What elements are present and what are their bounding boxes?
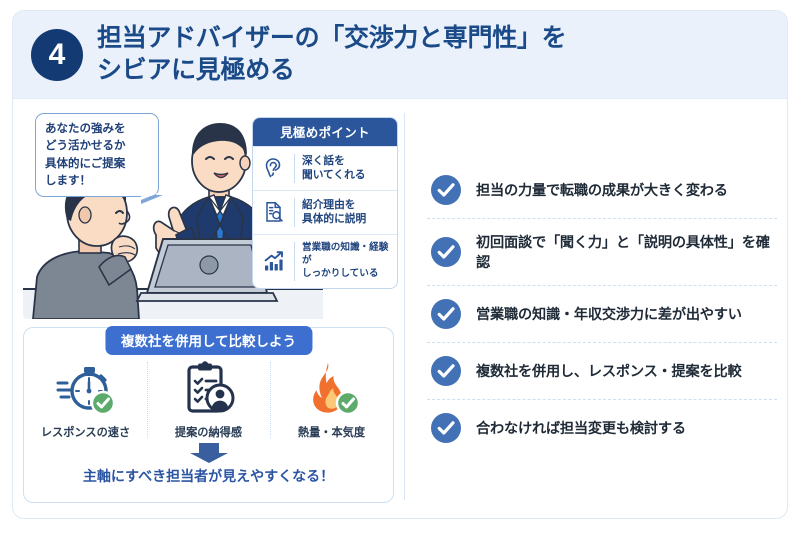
point-line-2: 具体的に説明 xyxy=(302,213,366,225)
speech-bubble: あなたの強みを どう活かせるか 具体的にご提案 します！ xyxy=(35,113,159,197)
compare-column: 熱量・本気度 xyxy=(270,358,393,440)
ear-icon xyxy=(261,155,287,181)
check-circle-icon xyxy=(431,237,461,267)
point-item-text: 営業職の知識・経験が しっかりしている xyxy=(294,242,390,281)
compare-panel-title: 複数社を併用して比較しよう xyxy=(105,326,312,355)
green-check-badge xyxy=(337,392,359,414)
compare-column-label: 提案の納得感 xyxy=(147,424,270,440)
step-number-badge: 4 xyxy=(31,29,83,81)
checklist-item-text: 合わなければ担当変更も検討する xyxy=(476,418,686,438)
compare-column-label: レスポンスの速さ xyxy=(24,424,147,440)
check-circle-icon xyxy=(431,356,461,386)
checklist-item-text: 営業職の知識・年収交渉力に差が出やすい xyxy=(476,304,742,324)
checklist-item: 複数社を併用し、レスポンス・提案を比較 xyxy=(427,342,777,399)
compare-column-label: 熱量・本気度 xyxy=(270,424,393,440)
left-column: あなたの強みを どう活かせるか 具体的にご提案 します！ 見極めポイント xyxy=(13,99,404,518)
checklist-item: 営業職の知識・年収交渉力に差が出やすい xyxy=(427,285,777,342)
page-title: 担当アドバイザーの「交渉力と専門性」を シビアに見極める xyxy=(97,23,566,86)
infographic-page: 4 担当アドバイザーの「交渉力と専門性」を シビアに見極める xyxy=(0,0,800,533)
point-line-2: 聞いてくれる xyxy=(302,169,365,181)
point-item: 営業職の知識・経験が しっかりしている xyxy=(253,234,397,288)
checklist-item-text: 担当の力量で転職の成果が大きく変わる xyxy=(476,180,728,200)
point-line-1: 営業職の知識・経験が xyxy=(302,242,388,266)
check-circle-icon xyxy=(431,299,461,329)
checklist-item-text: 複数社を併用し、レスポンス・提案を比較 xyxy=(476,361,741,381)
points-panel-heading: 見極めポイント xyxy=(253,118,397,146)
point-line-2: しっかりしている xyxy=(302,268,378,279)
infographic-card: 4 担当アドバイザーの「交渉力と専門性」を シビアに見極める xyxy=(12,10,788,519)
down-arrow-icon xyxy=(24,442,393,464)
speech-bubble-text: あなたの強みを どう活かせるか 具体的にご提案 します！ xyxy=(45,123,126,187)
checklist-item: 初回面談で「聞く力」と「説明の具体性」を確認 xyxy=(427,218,777,285)
compare-column: 提案の納得感 xyxy=(147,358,270,440)
compare-column: レスポンスの速さ xyxy=(24,358,147,440)
checklist-item: 担当の力量で転職の成果が大きく変わる xyxy=(427,162,777,218)
document-search-icon xyxy=(261,199,287,225)
checklist-item-text: 初回面談で「聞く力」と「説明の具体性」を確認 xyxy=(476,232,777,272)
title-line-1: 担当アドバイザーの「交渉力と専門性」を xyxy=(97,24,566,52)
check-circle-icon xyxy=(431,413,461,443)
stopwatch-icon xyxy=(24,358,147,420)
speech-bubble-tail-fill xyxy=(141,193,158,200)
growth-chart-icon xyxy=(261,248,287,274)
checklist-column: 担当の力量で転職の成果が大きく変わる 初回面談で「聞く力」と「説明の具体性」を確… xyxy=(405,99,787,518)
point-line-1: 深く話を xyxy=(302,155,345,167)
body-split: あなたの強みを どう活かせるか 具体的にご提案 します！ 見極めポイント xyxy=(13,99,787,518)
point-line-1: 紹介理由を xyxy=(302,199,355,211)
point-item: 紹介理由を 具体的に説明 xyxy=(253,190,397,234)
header-band: 4 担当アドバイザーの「交渉力と専門性」を シビアに見極める xyxy=(13,11,787,99)
check-circle-icon xyxy=(431,175,461,205)
compare-panel-footer: 主軸にすべき担当者が見えやすくなる！ xyxy=(24,466,393,486)
clipboard-person-icon xyxy=(147,358,270,420)
flame-icon xyxy=(270,358,393,420)
point-item: 深く話を 聞いてくれる xyxy=(253,146,397,190)
points-panel: 見極めポイント 深く話を 聞いてくれる xyxy=(252,117,398,289)
checklist-item: 合わなければ担当変更も検討する xyxy=(427,399,777,456)
green-check-badge xyxy=(92,392,114,414)
point-item-text: 深く話を 聞いてくれる xyxy=(294,154,365,183)
title-line-2: シビアに見極める xyxy=(97,55,566,86)
point-item-text: 紹介理由を 具体的に説明 xyxy=(294,198,366,227)
illustration-block: あなたの強みを どう活かせるか 具体的にご提案 します！ 見極めポイント xyxy=(23,107,398,319)
compare-panel: 複数社を併用して比較しよう xyxy=(23,327,394,503)
